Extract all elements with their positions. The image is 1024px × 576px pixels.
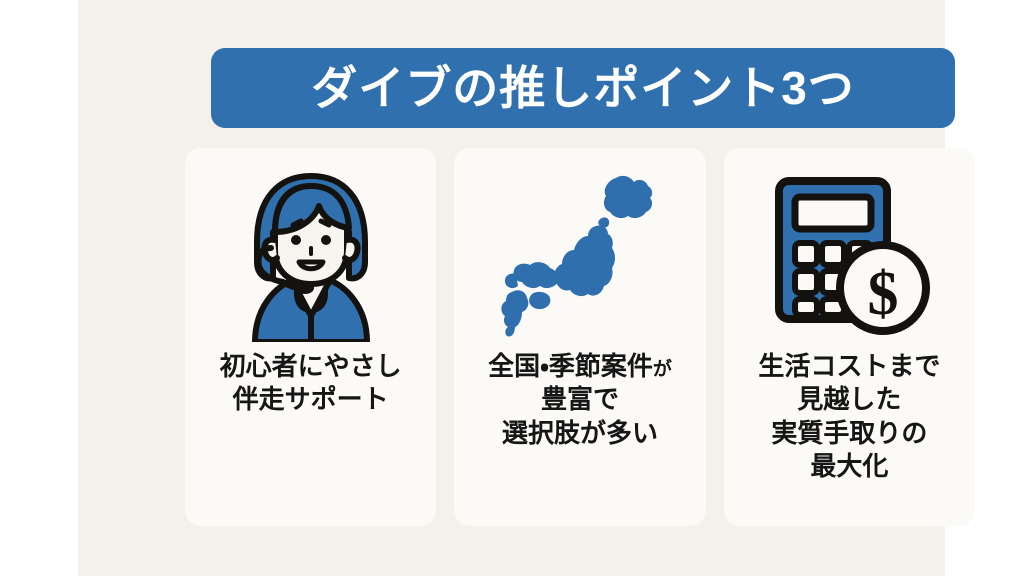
- japan-map-icon: [496, 170, 664, 342]
- card-3-caption-line-3: 実質手取りの: [758, 417, 940, 450]
- feature-card-1[interactable]: 初心者にやさし 伴走サポート: [185, 148, 436, 526]
- title-banner: ダイブの推しポイント3つ: [211, 48, 955, 128]
- card-2-caption-line-1: 全国・季節案件が: [488, 350, 672, 383]
- feature-cards-row: 初心者にやさし 伴走サポート: [185, 148, 975, 526]
- card-2-caption-line-2: 豊富で: [488, 383, 672, 416]
- card-3-caption-line-4: 最大化: [758, 450, 940, 483]
- card-3-caption-line-2: 見越した: [758, 383, 940, 416]
- card-2-caption: 全国・季節案件が 豊富で 選択肢が多い: [488, 350, 672, 450]
- feature-card-2[interactable]: 全国・季節案件が 豊富で 選択肢が多い: [454, 148, 705, 526]
- card-3-caption: 生活コストまで 見越した 実質手取りの 最大化: [758, 350, 940, 483]
- calculator-dollar-coin-icon: $: [766, 171, 932, 341]
- card-3-art: $: [766, 166, 932, 346]
- feature-card-3[interactable]: $ 生活コストまで 見越した 実質手取りの 最大化: [724, 148, 975, 526]
- page-title: ダイブの推しポイント3つ: [311, 65, 855, 111]
- card-2-caption-line-1-main: 全国・季節案件: [488, 351, 653, 381]
- card-3-caption-line-1: 生活コストまで: [758, 350, 940, 383]
- card-1-caption-line-1: 初心者にやさし: [220, 350, 402, 383]
- card-2-art: [496, 166, 664, 346]
- card-2-caption-line-3: 選択肢が多い: [488, 417, 672, 450]
- slide-canvas: ダイブの推しポイント3つ: [78, 0, 945, 576]
- card-1-art: [231, 166, 391, 346]
- card-2-caption-line-1-particle: が: [653, 359, 672, 380]
- support-agent-woman-headset-icon: [231, 170, 391, 342]
- svg-text:$: $: [868, 260, 899, 328]
- card-1-caption-line-2: 伴走サポート: [220, 383, 402, 416]
- card-1-caption: 初心者にやさし 伴走サポート: [220, 350, 402, 417]
- slide-root: ダイブの推しポイント3つ: [0, 0, 1024, 576]
